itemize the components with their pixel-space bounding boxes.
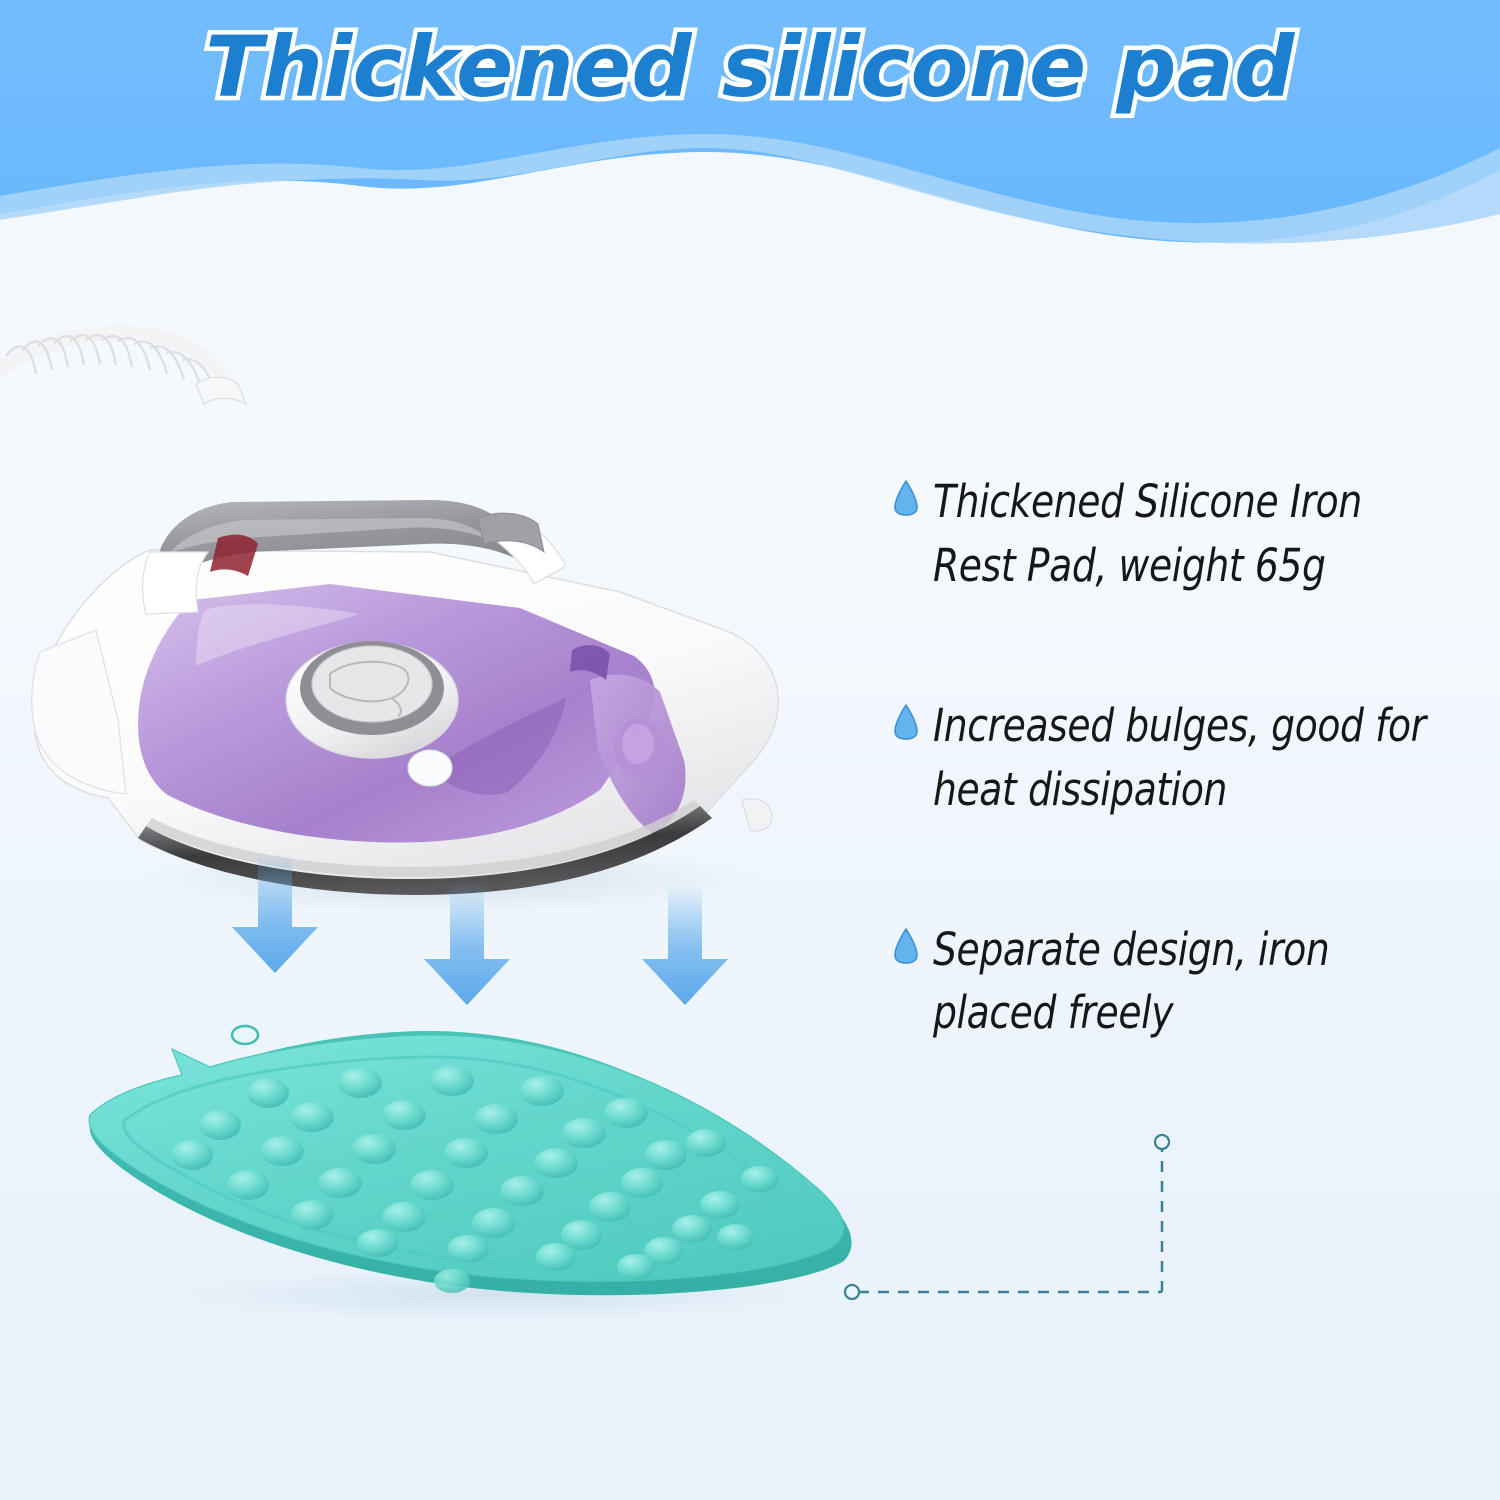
infographic-canvas: Thickened silicone pad	[0, 0, 1500, 1500]
iron-sole-bullet-icon	[893, 480, 919, 516]
leader-endpoint-top	[1155, 1135, 1169, 1149]
iron-sole-bullet-icon	[893, 928, 919, 964]
steam-iron-image	[0, 300, 880, 940]
nozzle-inner	[622, 724, 654, 764]
cord-strain-relief	[196, 377, 246, 404]
list-item: Increased bulges, good for heat dissipat…	[893, 694, 1493, 822]
list-item: Separate design, iron placed freely	[893, 918, 1493, 1046]
arrow-down-1	[232, 855, 318, 973]
feature-text: Separate design, iron placed freely	[933, 918, 1454, 1046]
list-item: Thickened Silicone Iron Rest Pad, weight…	[893, 470, 1493, 598]
hanging-hole	[232, 1026, 258, 1044]
spray-button	[408, 750, 452, 786]
silicone-pad-image	[60, 975, 900, 1325]
page-title: Thickened silicone pad	[205, 18, 1295, 116]
page-title-wrap: Thickened silicone pad	[0, 18, 1500, 116]
iron-sole-bullet-icon	[893, 704, 919, 740]
feature-text: Increased bulges, good for heat dissipat…	[933, 694, 1454, 822]
leader-endpoint-left	[845, 1285, 859, 1299]
feature-list: Thickened Silicone Iron Rest Pad, weight…	[893, 470, 1493, 1045]
feature-text: Thickened Silicone Iron Rest Pad, weight…	[933, 470, 1454, 598]
measurement-leader-line	[820, 1120, 1240, 1340]
temperature-dial	[286, 641, 458, 758]
side-nub	[742, 799, 772, 831]
